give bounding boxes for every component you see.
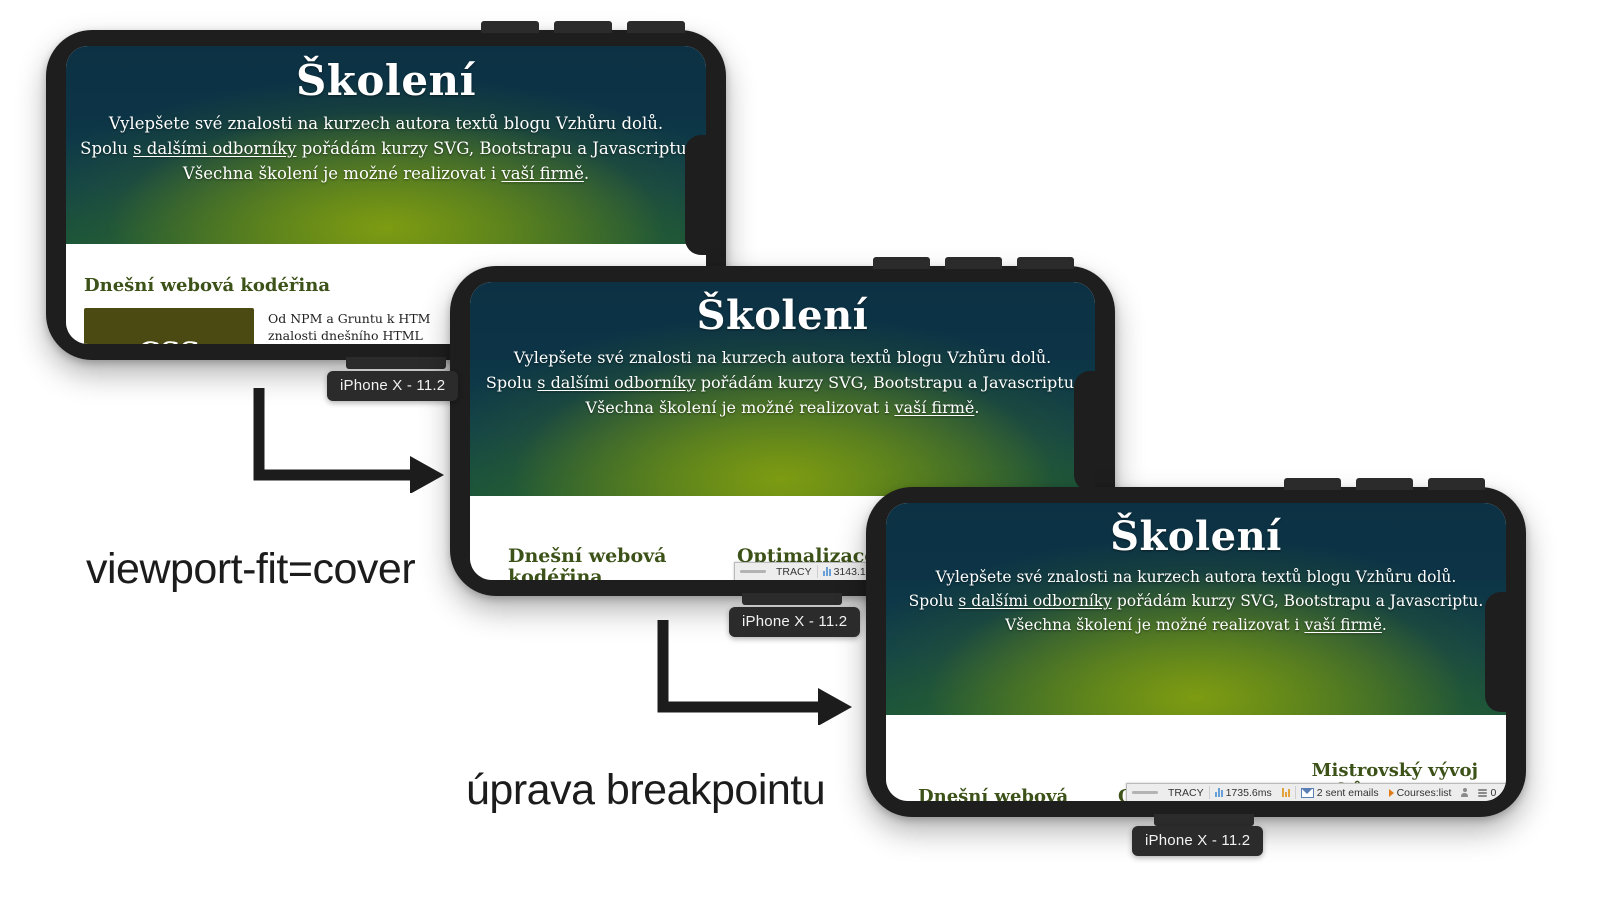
hero-line-2-pre: Spolu [909,592,959,610]
phone-3-hero: Školení Vylepšete své znalosti na kurzec… [886,503,1506,715]
hero-line-2-post: pořádám kurzy SVG, Bootstrapu a Javascri… [1112,592,1483,610]
user-icon [1461,788,1468,797]
hero-link-odbornici[interactable]: s dalšími odborníky [537,373,695,392]
tracy-database-panel[interactable]: 0 [1473,787,1501,799]
column-heading-mistrovsky-l1: Mistrovský vývoj [1312,761,1496,781]
device-badge-phone-1: iPhone X - 11.2 [327,371,458,401]
hero-line-3: Všechna školení je možné realizovat i va… [886,616,1506,634]
tracy-label: TRACY [771,566,817,578]
canvas: viewport-fit=cover úprava breakpointu Šk… [0,0,1600,900]
phone-2-hero: Školení Vylepšete své znalosti na kurzec… [470,282,1095,496]
hero-link-odbornici[interactable]: s dalšími odborníky [958,592,1112,610]
annotation-breakpoint: úprava breakpointu [466,766,825,815]
hero-line-3-pre: Všechna školení je možné realizovat i [183,164,502,183]
hero-link-firma[interactable]: vaší firmě [501,164,583,183]
bar-chart-icon [1215,788,1223,797]
hero-line-1: Vylepšete své znalosti na kurzech autora… [470,348,1095,367]
hero-line-3-pre: Všechna školení je možné realizovat i [586,398,895,417]
phone-2-button-volume-down [945,257,1002,269]
tracy-count-value: 0 [1490,787,1496,799]
tracy-label-text: TRACY [1168,787,1204,799]
hero-line-3: Všechna školení je možné realizovat i va… [66,164,706,183]
hero-line-1: Vylepšete své znalosti na kurzech autora… [886,568,1506,586]
phone-2-button-volume-up [873,257,930,269]
hero-title: Školení [886,515,1506,558]
course-card-label-css: CSS [84,336,254,344]
device-badge-phone-3: iPhone X - 11.2 [1132,826,1263,856]
memory-bars-icon [1282,788,1290,797]
hero-line-3-post: . [974,398,979,417]
column-koderina: Dnešní webová kodéřina [886,761,1108,801]
phone-1-notch [685,135,706,255]
hero-link-odbornici[interactable]: s dalšími odborníky [133,139,296,158]
course-card-text-line1: Od NPM a Gruntu k HTM [268,310,478,327]
bar-chart-icon [823,567,831,576]
hero-line-1: Vylepšete své znalosti na kurzech autora… [66,114,706,133]
route-arrow-icon [1389,789,1394,797]
tracy-user-panel[interactable] [1456,788,1473,797]
hero-line-3-pre: Všechna školení je možné realizovat i [1005,616,1304,634]
tracy-debug-bar[interactable]: TRACY 1735.6ms 2 sent e [1126,783,1506,801]
column-heading-koderina-l1: Dnešní webová [508,546,713,567]
hero-line-2-post: pořádám kurzy SVG, Bootstrapu a Javascri… [297,139,692,158]
phone-1-button-volume-down [554,21,612,33]
phone-3-home-indicator-edge [1154,814,1254,826]
tracy-route-panel[interactable]: Courses:list [1384,787,1457,799]
device-phone-3: Školení Vylepšete své znalosti na kurzec… [866,487,1526,817]
hero-line-2-pre: Spolu [80,139,133,158]
tracy-route-value: Courses:list [1397,787,1452,799]
phone-1-home-indicator-edge [346,357,446,369]
hero-title: Školení [470,294,1095,337]
tracy-time-value: 1735.6ms [1226,787,1272,799]
phone-3-notch [1485,592,1506,712]
hero-title: Školení [66,58,706,103]
tracy-emails-value: 2 sent emails [1317,787,1379,799]
hero-line-3-post: . [1382,616,1387,634]
course-card-text-line2: znalosti dnešního HTML [268,327,478,344]
phone-1-button-volume-up [481,21,539,33]
tracy-mail-panel[interactable]: 2 sent emails [1296,787,1384,799]
phone-2-button-power [1017,257,1074,269]
column-heading-koderina-l2: kodéřina [508,567,713,580]
envelope-icon [1301,788,1314,798]
tracy-memory-panel[interactable] [1277,788,1295,797]
column-heading-koderina-l1: Dnešní webová [918,787,1098,801]
phone-3-button-volume-up [1284,478,1341,490]
hero-line-3: Všechna školení je možné realizovat i va… [470,398,1095,417]
phone-1-hero: Školení Vylepšete své znalosti na kurzec… [66,46,706,244]
phone-3-content: Dnešní webová kodéřina Optimalizace webu… [886,715,1506,801]
phone-3-button-power [1428,478,1485,490]
tracy-label-text: TRACY [776,566,812,578]
tracy-grip[interactable] [740,570,766,573]
hero-line-2-post: pořádám kurzy SVG, Bootstrapu a Javascri… [696,373,1079,392]
device-badge-phone-2: iPhone X - 11.2 [729,607,860,637]
phone-3-page: Školení Vylepšete své znalosti na kurzec… [886,503,1506,801]
course-card-text: Od NPM a Gruntu k HTM znalosti dnešního … [268,310,478,344]
database-icon [1478,789,1487,797]
phone-3-button-volume-down [1356,478,1413,490]
hero-line-3-post: . [584,164,589,183]
tracy-grip[interactable] [1132,791,1158,794]
tracy-label: TRACY [1163,787,1209,799]
hero-link-firma[interactable]: vaší firmě [1304,616,1381,634]
annotation-viewport-fit: viewport-fit=cover [86,545,415,594]
phone-2-notch [1074,371,1095,491]
tracy-time-panel[interactable]: 1735.6ms [1210,787,1277,799]
hero-line-2-pre: Spolu [486,373,537,392]
column-koderina: Dnešní webová kodéřina [470,546,723,580]
hero-link-firma[interactable]: vaší firmě [894,398,974,417]
phone-3-screen: Školení Vylepšete své znalosti na kurzec… [886,503,1506,801]
arrow-viewport-fit [248,388,448,493]
phone-1-button-power [627,21,685,33]
hero-line-2: Spolu s dalšími odborníky pořádám kurzy … [886,592,1506,610]
hero-line-2: Spolu s dalšími odborníky pořádám kurzy … [470,373,1095,392]
hero-line-2: Spolu s dalšími odborníky pořádám kurzy … [66,139,706,158]
phone-2-home-indicator-edge [742,593,842,605]
section-heading-koderina: Dnešní webová kodéřina [84,276,330,296]
